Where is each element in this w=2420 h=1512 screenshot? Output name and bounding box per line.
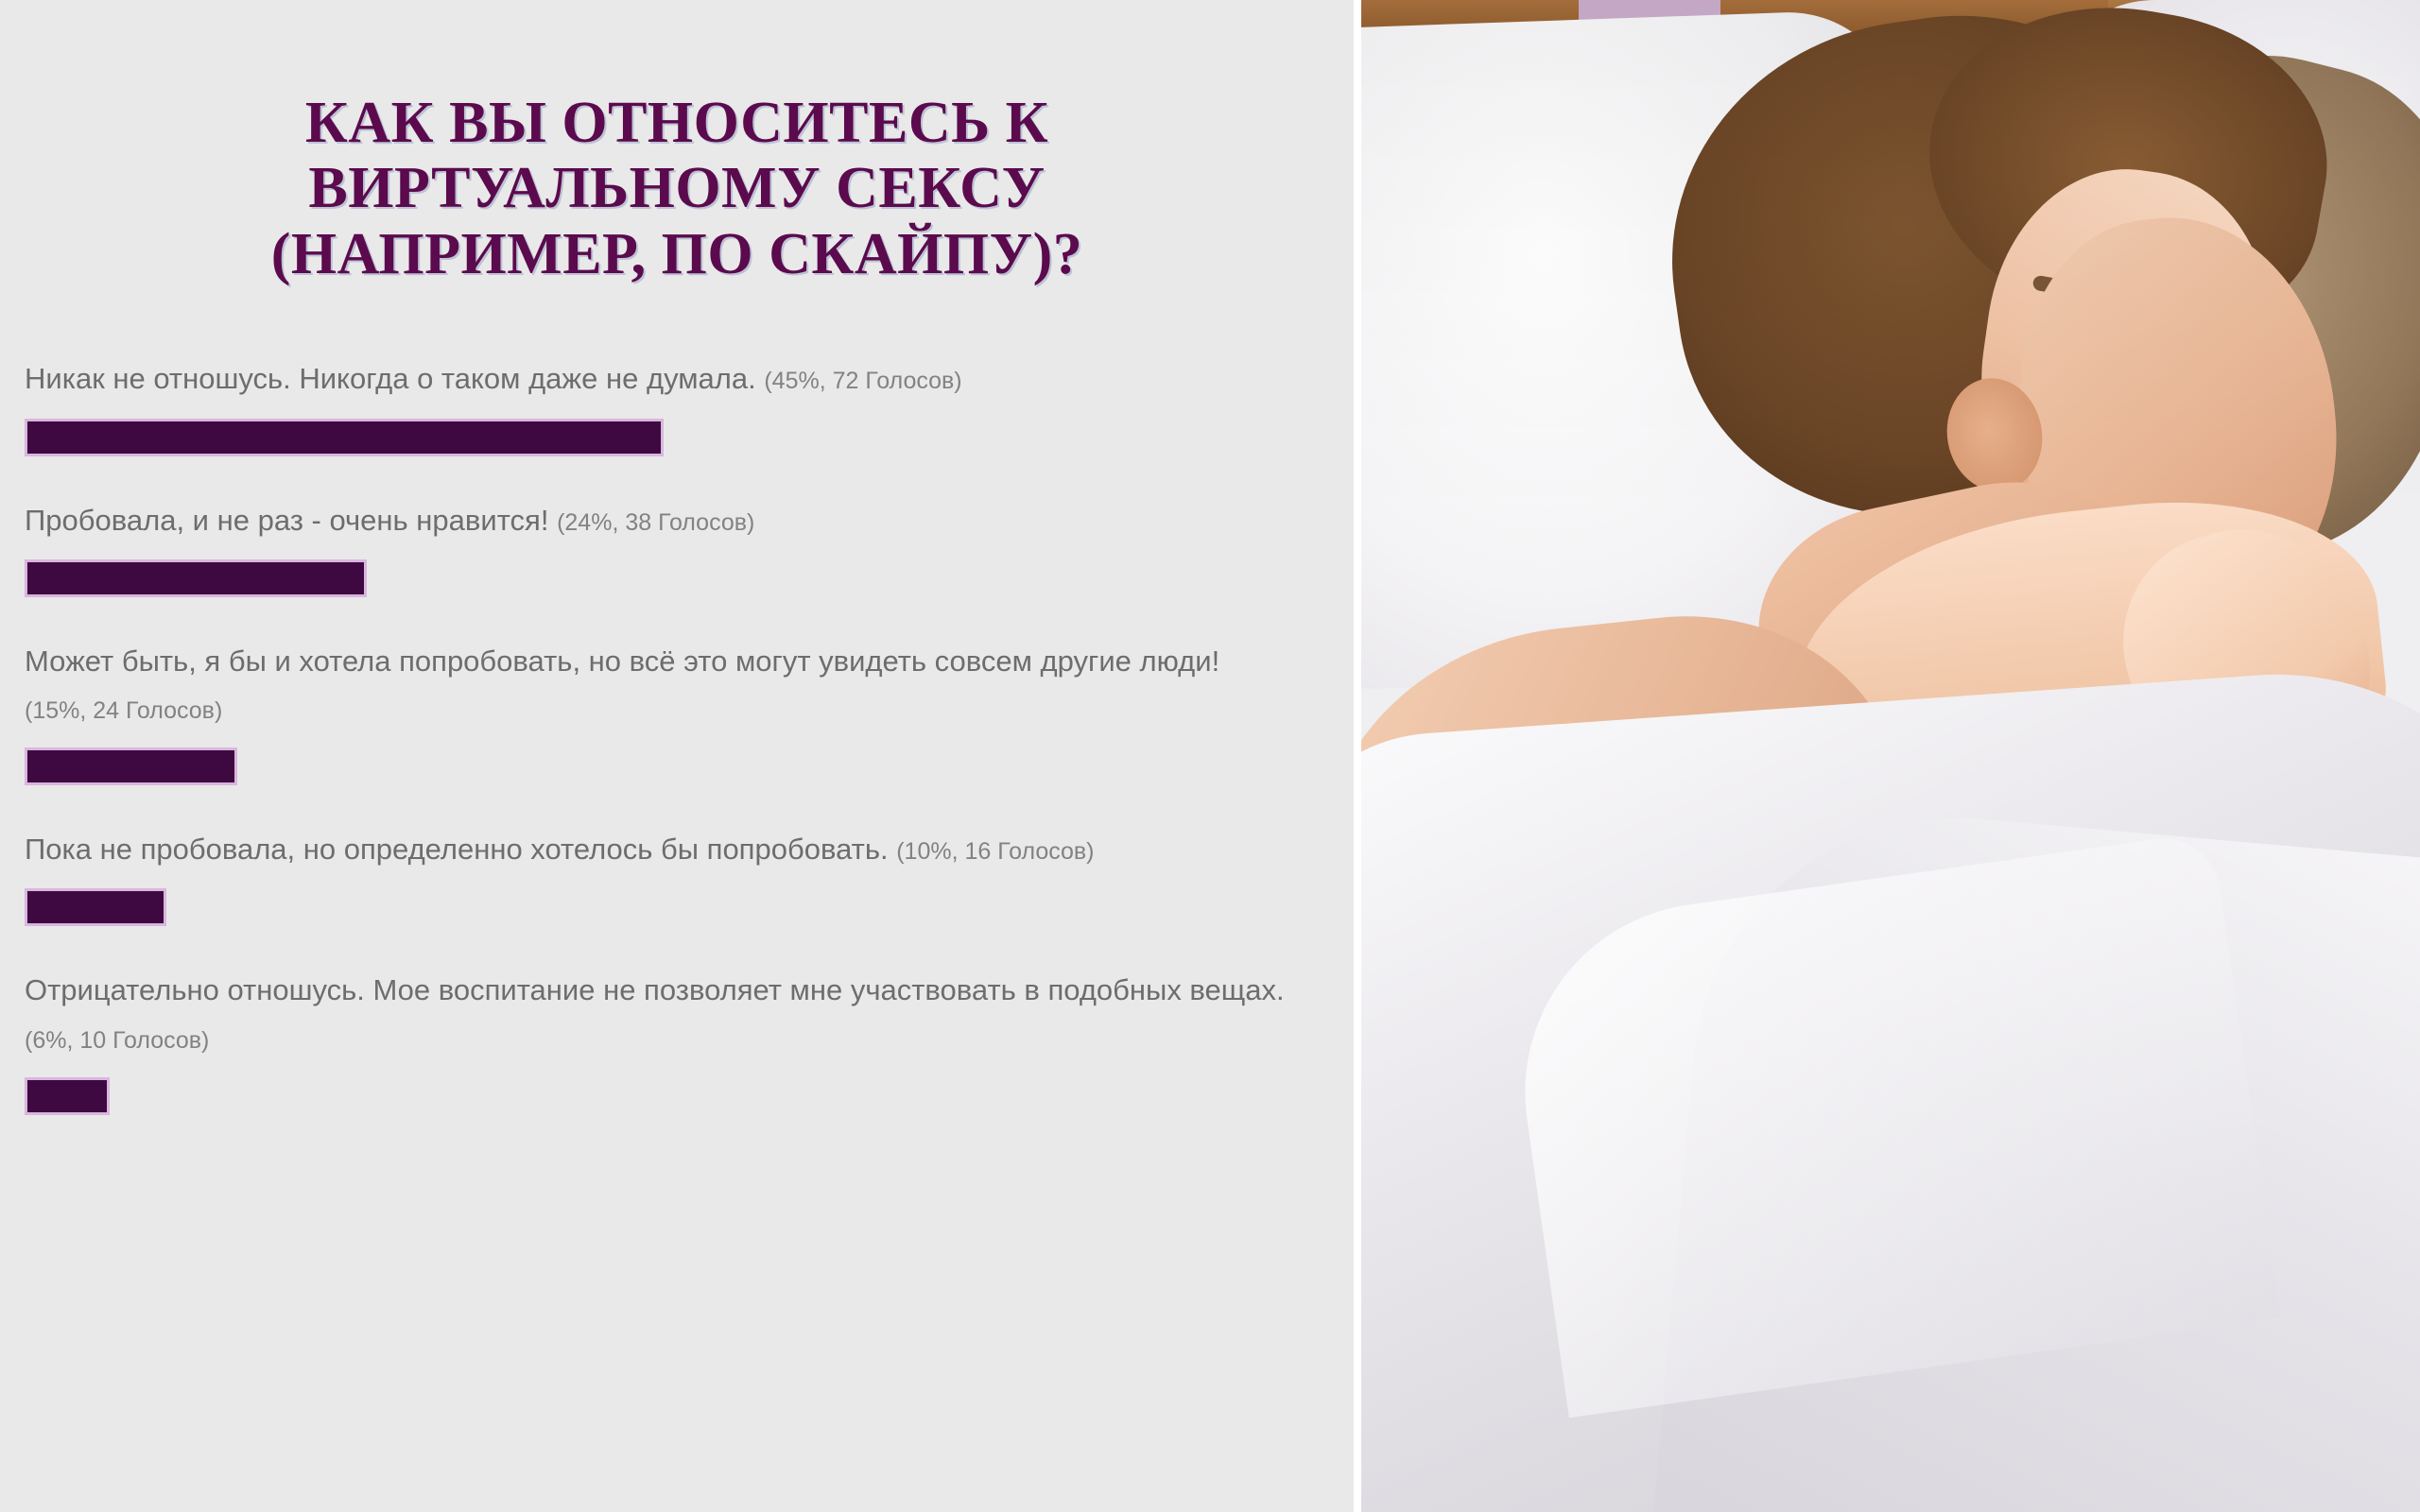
couple-in-bed-photo — [1361, 0, 2420, 1512]
poll-bar-fill — [25, 559, 367, 597]
poll-result-item[interactable]: Никак не отношусь. Никогда о таком даже … — [0, 355, 1354, 455]
poll-bar-fill — [25, 419, 664, 456]
page-title-line-3: (НАПРИМЕР, ПО СКАЙПУ)? — [57, 222, 1297, 287]
poll-result-item[interactable]: Пробовала, и не раз - очень нравится! (2… — [0, 497, 1354, 597]
poll-option-meta: (24%, 38 Голосов) — [557, 509, 754, 536]
poll-option-meta: (10%, 16 Голосов) — [896, 838, 1094, 865]
poll-option-meta: (15%, 24 Голосов) — [25, 697, 222, 724]
poll-bar-track — [25, 888, 1354, 926]
poll-option-meta: (45%, 72 Голосов) — [764, 368, 961, 394]
poll-panel: КАК ВЫ ОТНОСИТЕСЬ К ВИРТУАЛЬНОМУ СЕКСУ (… — [0, 0, 1354, 1512]
poll-option-label: Может быть, я бы и хотела попробовать, н… — [25, 638, 1354, 732]
poll-option-label: Пока не пробовала, но определенно хотело… — [25, 826, 1354, 873]
page-title-line-2: ВИРТУАЛЬНОМУ СЕКСУ — [57, 156, 1297, 221]
poll-option-meta: (6%, 10 Голосов) — [25, 1027, 209, 1054]
poll-option-text: Пока не пробовала, но определенно хотело… — [25, 833, 889, 866]
poll-bar-fill — [25, 1077, 110, 1115]
poll-bar-track — [25, 1077, 1354, 1115]
poll-option-text: Пробовала, и не раз - очень нравится! — [25, 504, 548, 537]
poll-result-item[interactable]: Отрицательно отношусь. Мое воспитание не… — [0, 967, 1354, 1114]
poll-bar-track — [25, 419, 1354, 456]
poll-option-text: Никак не отношусь. Никогда о таком даже … — [25, 362, 756, 395]
page-title-line-1: КАК ВЫ ОТНОСИТЕСЬ К — [57, 91, 1297, 156]
poll-bar-fill — [25, 888, 166, 926]
poll-option-label: Отрицательно отношусь. Мое воспитание не… — [25, 967, 1354, 1061]
poll-result-item[interactable]: Может быть, я бы и хотела попробовать, н… — [0, 638, 1354, 785]
page-title: КАК ВЫ ОТНОСИТЕСЬ К ВИРТУАЛЬНОМУ СЕКСУ (… — [0, 0, 1354, 287]
poll-results-list: Никак не отношусь. Никогда о таком даже … — [0, 287, 1354, 1115]
page-root: КАК ВЫ ОТНОСИТЕСЬ К ВИРТУАЛЬНОМУ СЕКСУ (… — [0, 0, 2420, 1512]
poll-result-item[interactable]: Пока не пробовала, но определенно хотело… — [0, 826, 1354, 926]
poll-bar-fill — [25, 747, 237, 785]
poll-bar-track — [25, 559, 1354, 597]
poll-option-text: Отрицательно отношусь. Мое воспитание не… — [25, 973, 1285, 1006]
photo-panel — [1354, 0, 2420, 1512]
poll-option-label: Пробовала, и не раз - очень нравится! (2… — [25, 497, 1354, 544]
poll-option-text: Может быть, я бы и хотела попробовать, н… — [25, 644, 1219, 678]
poll-bar-track — [25, 747, 1354, 785]
poll-option-label: Никак не отношусь. Никогда о таком даже … — [25, 355, 1354, 403]
